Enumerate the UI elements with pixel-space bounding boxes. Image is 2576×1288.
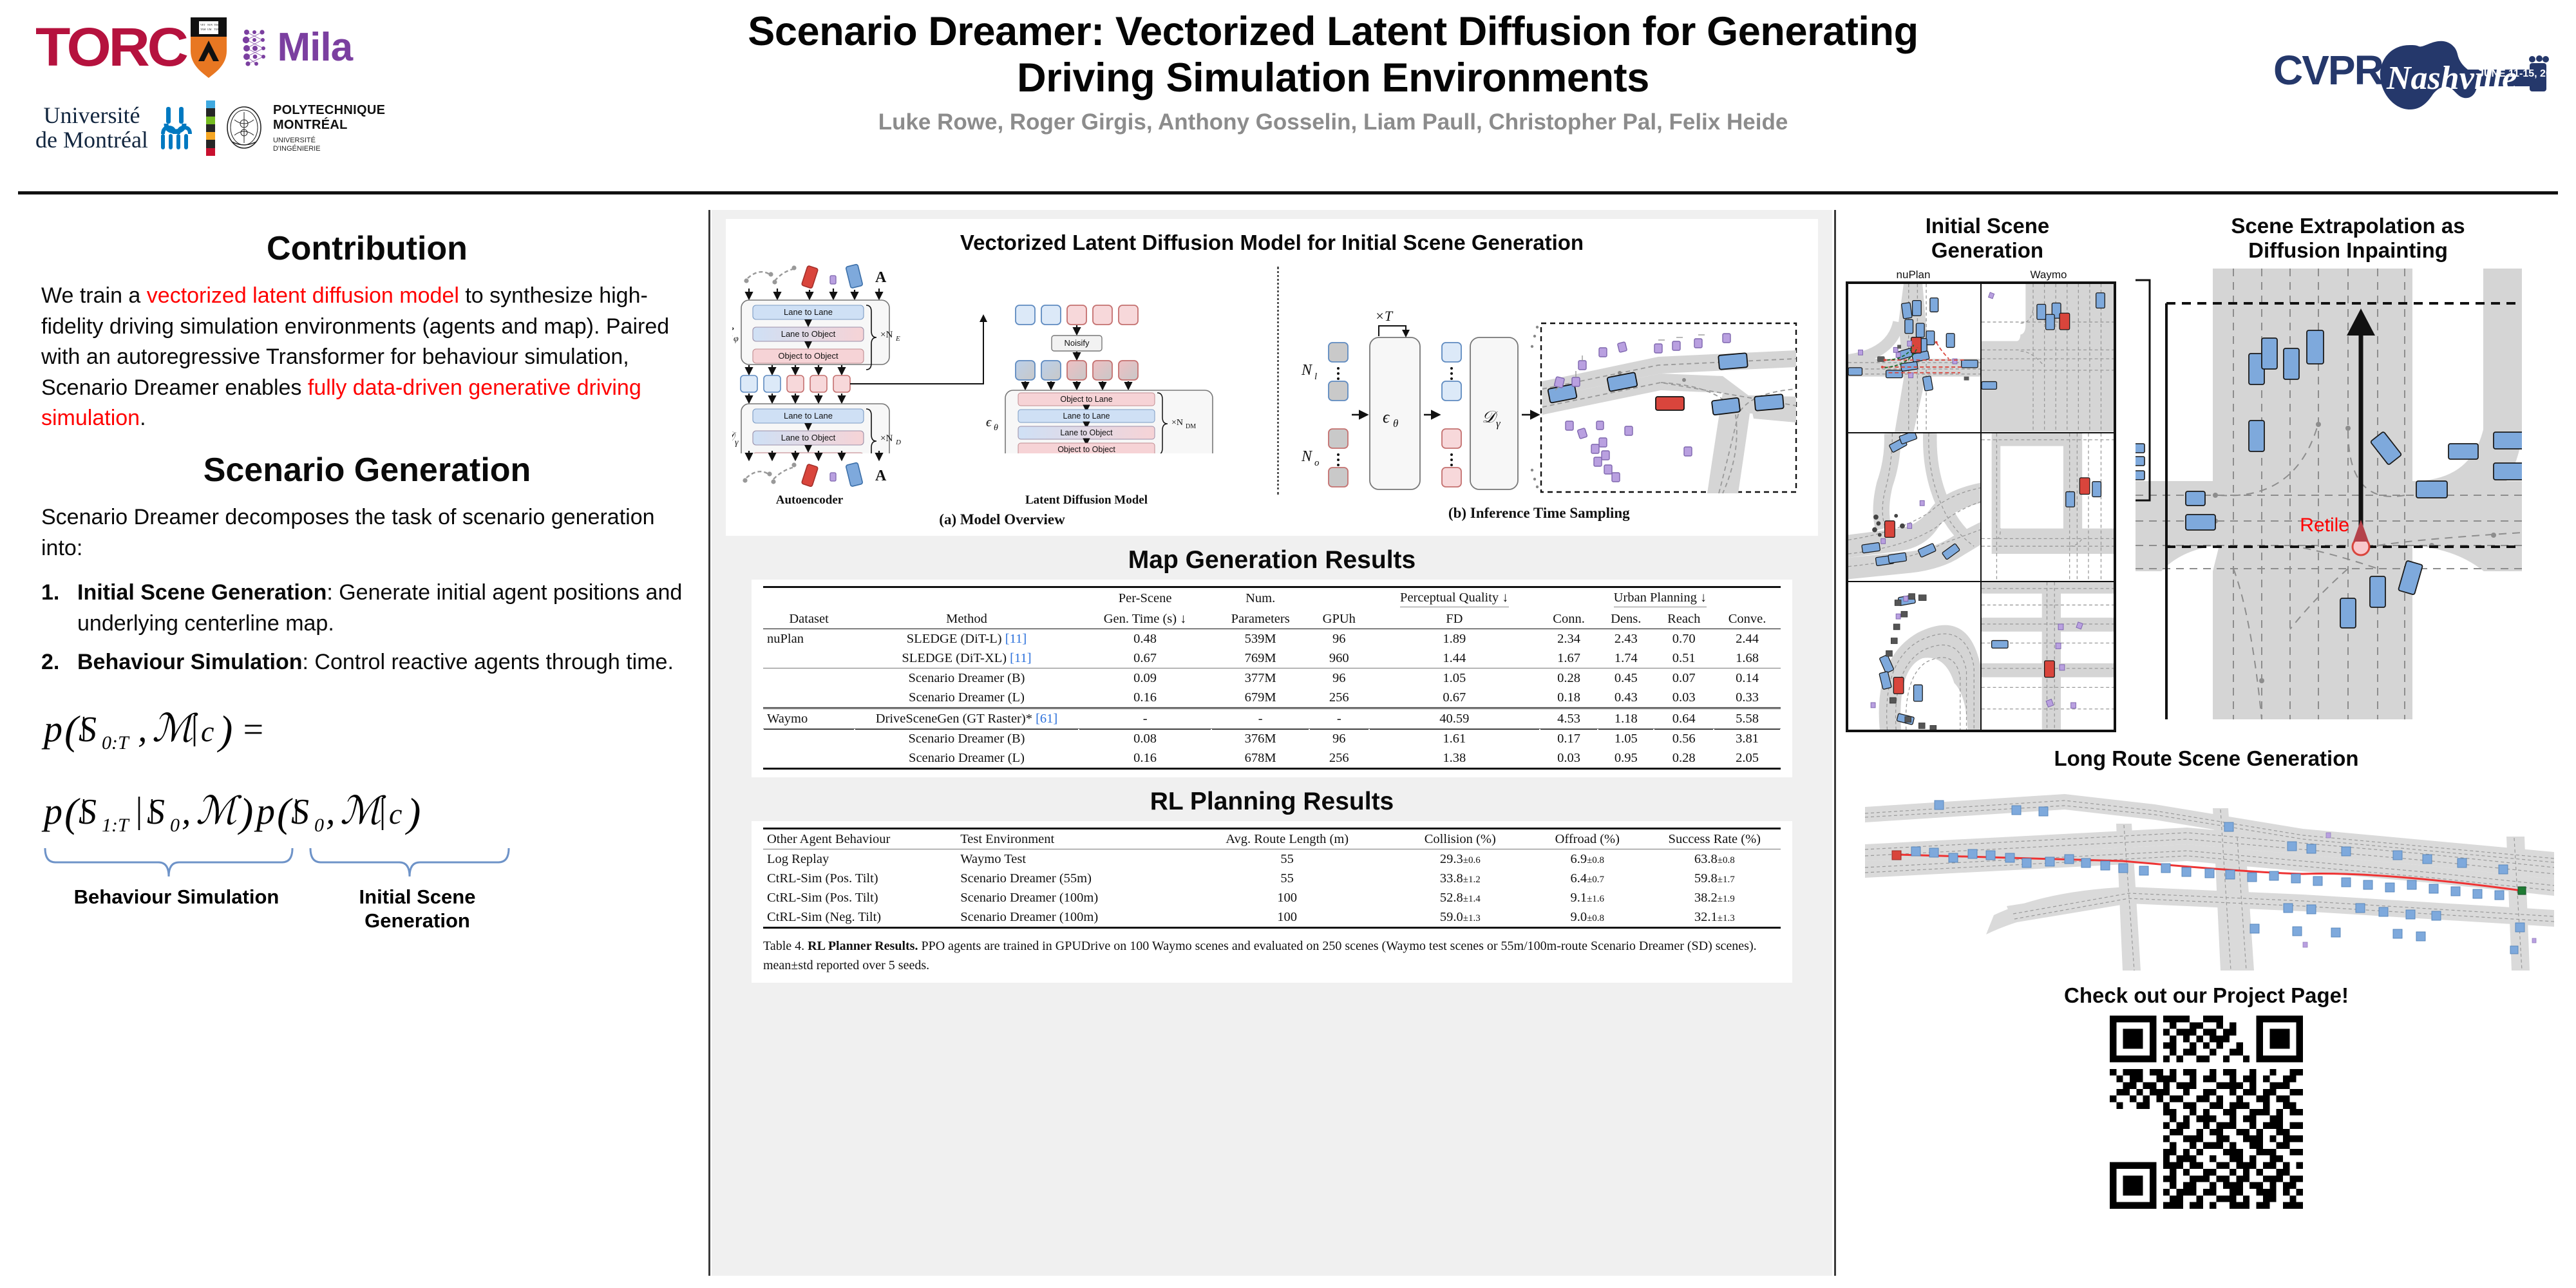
cell-gen: 0.08 [1079,729,1212,749]
map-results-table: Per-Scene Num. Perceptual Quality ↓ Urba… [763,586,1781,770]
list-item: 1. Initial Scene Generation: Generate in… [41,578,693,639]
scenario-steps-list: 1. Initial Scene Generation: Generate in… [41,578,693,678]
svg-text:×N: ×N [880,330,893,340]
col-gentime: Gen. Time (s) ↓ [1079,609,1212,629]
cell-reach: 0.03 [1654,688,1714,708]
rl-cell-behaviour: CtRL-Sim (Neg. Tilt) [763,907,956,928]
scene-cell-nuplan-2 [1848,433,1981,582]
cell-fd: 1.05 [1369,668,1540,688]
svg-text:c: c [201,715,214,748]
cell-params: 678M [1211,748,1309,769]
scenario-intro: Scenario Dreamer decomposes the task of … [41,502,693,563]
caption-prefix: Table 4. [763,939,804,953]
rl-col-env: Test Environment [956,829,1180,849]
cell-params: 679M [1211,688,1309,708]
rl-cell-offroad: 9.0±0.8 [1526,907,1649,928]
cell-params: 377M [1211,668,1309,688]
initial-scene-generation-block: Initial Scene Generation nuPlan Waymo [1846,210,2129,732]
cell-dataset [763,668,855,688]
table-row: Waymo DriveSceneGen (GT Raster)* [61] - … [763,708,1781,729]
inference-diagram: N l N o ϵ θ ×T [1272,260,1806,500]
cell-reach: 0.51 [1654,649,1714,668]
svg-text:): ) [216,707,232,753]
dataset-labels: nuPlan Waymo [1846,269,2116,281]
svg-text:=: = [241,710,265,750]
mila-dots-icon [240,27,274,67]
cell-dataset [763,748,855,769]
rl-cell-env: Waymo Test [956,849,1180,869]
cell-conn: 0.03 [1540,748,1598,769]
svg-text:Object to Lane: Object to Lane [1060,395,1112,404]
rl-cell-route: 55 [1180,869,1394,888]
svg-text:TES: TES [214,23,218,26]
cvpr-wordmark: CVPR [2273,46,2383,94]
cell-conve: 2.44 [1714,629,1781,649]
scene-extrapolation-block: Scene Extrapolation as Diffusion Inpaint… [2136,210,2561,732]
cell-gpuh: 960 [1309,649,1369,668]
mila-wordmark: Mila [277,24,352,70]
cell-gen: 0.48 [1079,629,1212,649]
cell-fd: 1.89 [1369,629,1540,649]
cell-conn: 0.28 [1540,668,1598,688]
cell-conn: 0.18 [1540,688,1598,708]
svg-text:Noisify: Noisify [1064,338,1090,348]
col-gpuh: GPUh [1309,609,1369,629]
model-overview-diagram: A ℰ φ Lane to Lane Lane to Obje [732,260,1276,453]
torc-logo: TORC [35,16,186,79]
extrapolation-heading-l1: Scene Extrapolation as [2136,214,2561,238]
poster-header: TORC VETNOVTES TAMUMTUM [0,0,2576,193]
cell-dataset [763,649,855,668]
group-header-num: Num. [1211,587,1309,610]
svg-text:p: p [41,708,62,750]
brace-label-behaviour: Behaviour Simulation [41,885,312,933]
extrapolation-heading: Scene Extrapolation as Diffusion Inpaint… [2136,214,2561,262]
table-bottom-rule [763,769,1781,770]
svg-text:Lane to Object: Lane to Object [781,329,836,339]
cell-gen: 0.67 [1079,649,1212,668]
svg-text:A: A [875,468,887,484]
cvpr-dates: JUNE 11-15, 2025 [2478,68,2563,80]
col-conve: Conve. [1714,609,1781,629]
cell-method: Scenario Dreamer (L) [855,748,1079,769]
scene-cell-nuplan-3 [1848,582,1981,730]
polytechnique-wordmark: POLYTECHNIQUE MONTRÉAL UNIVERSITÉ D'INGÉ… [273,103,385,153]
caption-bold: RL Planner Results. [808,939,918,953]
rl-cell-offroad: 9.1±1.6 [1526,888,1649,907]
svg-text:Lane to Lane: Lane to Lane [784,307,833,317]
brace-labels: Behaviour Simulation Initial Scene Gener… [41,885,693,933]
rl-cell-route: 55 [1180,849,1394,869]
rl-cell-route: 100 [1180,907,1394,928]
cell-conn: 4.53 [1540,708,1598,729]
cell-fd: 1.38 [1369,748,1540,769]
svg-text:TAM: TAM [200,28,206,31]
rl-cell-offroad: 6.4±0.7 [1526,869,1649,888]
cell-params: 539M [1211,629,1309,649]
factorization-equation: p ( S 0:T , ℳ c ) = p ( S [41,701,693,933]
svg-text:ℳ: ℳ [196,790,242,832]
list-item-number: 1. [41,578,68,639]
column-divider-right [1834,210,1836,1276]
col-dens: Dens. [1598,609,1654,629]
logo-row-top: TORC VETNOVTES TAMUMTUM [35,12,460,82]
poster-authors: Luke Rowe, Roger Girgis, Anthony Gosseli… [464,109,2202,135]
cell-gpuh: 96 [1309,629,1369,649]
list-item-text: Behaviour Simulation: Control reactive a… [77,647,674,678]
svg-text:×N: ×N [880,433,893,444]
table-column-header-row: Dataset Method Gen. Time (s) ↓ Parameter… [763,609,1781,629]
cell-gpuh: - [1309,708,1369,729]
cell-params: - [1211,708,1309,729]
brace-label-initial: Initial Scene Generation [314,885,520,933]
table-row: SLEDGE (DiT-XL) [11] 0.67 769M 960 1.44 … [763,649,1781,668]
svg-text:Autoencoder: Autoencoder [776,493,844,507]
cell-method: SLEDGE (DiT-XL) [11] [855,649,1079,668]
cell-method: Scenario Dreamer (B) [855,729,1079,749]
label-nuplan: nuPlan [1846,269,1981,281]
equation-braces [41,846,685,883]
cell-gpuh: 96 [1309,668,1369,688]
rl-results-title: RL Planning Results [712,788,1832,816]
table-group-header-row: Per-Scene Num. Perceptual Quality ↓ Urba… [763,587,1781,610]
rl-results-table: Other Agent Behaviour Test Environment A… [763,828,1781,929]
svg-text:Object to Object: Object to Object [1057,445,1115,453]
cell-reach: 0.64 [1654,708,1714,729]
cell-method: DriveSceneGen (GT Raster)* [61] [855,708,1079,729]
table-row: CtRL-Sim (Pos. Tilt) Scenario Dreamer (1… [763,888,1781,907]
svg-text:l: l [1314,372,1317,382]
svg-text:,: , [182,790,191,832]
svg-text:,: , [326,790,336,832]
cell-fd: 1.44 [1369,649,1540,668]
svg-text:,: , [138,708,147,750]
cell-reach: 0.28 [1654,748,1714,769]
cell-gpuh: 96 [1309,729,1369,749]
list-item-bold: Initial Scene Generation [77,580,327,605]
col-conn: Conn. [1540,609,1598,629]
figure-caption-a: (a) Model Overview [732,509,1272,528]
svg-text:N: N [1301,362,1313,379]
cell-dens: 1.18 [1598,708,1654,729]
rl-cell-collision: 33.8±1.2 [1394,869,1526,888]
initial-scene-heading-l1: Initial Scene [1846,214,2129,238]
figure-caption-b: (b) Inference Time Sampling [1272,502,1806,522]
svg-text:): ) [404,790,421,835]
cell-reach: 0.07 [1654,668,1714,688]
right-column: Initial Scene Generation nuPlan Waymo [1837,210,2576,1276]
princeton-shield-icon: VETNOVTES TAMUMTUM [189,15,229,79]
rl-col-route: Avg. Route Length (m) [1180,829,1394,849]
cell-dens: 2.43 [1598,629,1654,649]
project-qr-code[interactable] [2110,1016,2303,1209]
col-params: Parameters [1211,609,1309,629]
svg-text:φ: φ [734,334,739,344]
rl-cell-collision: 59.0±1.3 [1394,907,1526,928]
scene-cell-waymo-3 [1981,582,2114,730]
poster-root: TORC VETNOVTES TAMUMTUM [0,0,2576,1288]
cell-conve: 0.14 [1714,668,1781,688]
rl-cell-env: Scenario Dreamer (100m) [956,907,1180,928]
svg-text:θ: θ [994,423,998,433]
udem-line2: de Montréal [35,128,148,153]
poly-sub1: UNIVERSITÉ [273,137,385,145]
svg-text:S: S [79,792,97,832]
cell-reach: 0.70 [1654,629,1714,649]
left-column: Contribution We train a vectorized laten… [26,213,708,1275]
rl-cell-env: Scenario Dreamer (100m) [956,888,1180,907]
list-item-number: 2. [41,647,68,678]
table-row: CtRL-Sim (Neg. Tilt) Scenario Dreamer (1… [763,907,1781,928]
table-row: CtRL-Sim (Pos. Tilt) Scenario Dreamer (5… [763,869,1781,888]
svg-text:×N: ×N [1171,418,1183,428]
cell-method: SLEDGE (DiT-L) [11] [855,629,1079,649]
cell-dens: 0.95 [1598,748,1654,769]
rl-cell-success: 63.8±0.8 [1649,849,1781,869]
table-row: nuPlan SLEDGE (DiT-L) [11] 0.48 539M 96 … [763,629,1781,649]
svg-text:D: D [895,439,901,446]
col-dataset: Dataset [763,609,855,629]
cell-params: 376M [1211,729,1309,749]
brace-label-initial-l2: Generation [314,909,520,933]
poster-title-line2: Driving Simulation Environments [464,55,2202,102]
rl-col-collision: Collision (%) [1394,829,1526,849]
svg-text:Lane to Lane: Lane to Lane [1063,412,1110,421]
cell-conve: 0.33 [1714,688,1781,708]
extrapolation-heading-l2: Diffusion Inpainting [2136,238,2561,263]
rl-cell-collision: 29.3±0.6 [1394,849,1526,869]
cell-gen: 0.09 [1079,668,1212,688]
cell-conn: 2.34 [1540,629,1598,649]
svg-text:×T: ×T [1375,308,1394,324]
udem-line1: Université [35,104,148,128]
svg-text:p: p [254,790,275,832]
svg-text:UM: UM [207,28,212,31]
mila-logo: Mila [240,24,352,70]
svg-text:S: S [79,710,97,750]
table-row: Scenario Dreamer (L) 0.16 679M 256 0.67 … [763,688,1781,708]
rl-col-behaviour: Other Agent Behaviour [763,829,956,849]
cell-fd: 0.67 [1369,688,1540,708]
equation-line-2: p ( S 1:T S 0 , ℳ ) p ( S 0 [41,782,693,842]
cell-dens: 0.45 [1598,668,1654,688]
rl-cell-behaviour: Log Replay [763,849,956,869]
rl-col-offroad: Offroad (%) [1526,829,1649,849]
udem-logo: Université de Montréal [35,104,148,153]
long-route-heading: Long Route Scene Generation [1837,746,2576,771]
svg-text:c: c [389,797,402,830]
contribution-paragraph: We train a vectorized latent diffusion m… [41,281,693,434]
rl-col-success: Success Rate (%) [1649,829,1781,849]
title-block: Scenario Dreamer: Vectorized Latent Diff… [464,9,2202,135]
udem-mark-icon [157,106,197,151]
svg-text:1:T: 1:T [102,815,130,836]
cell-dataset: nuPlan [763,629,855,649]
rl-cell-behaviour: CtRL-Sim (Pos. Tilt) [763,869,956,888]
rl-cell-env: Scenario Dreamer (55m) [956,869,1180,888]
svg-text:DM: DM [1186,423,1196,430]
long-route-figure [1852,777,2561,977]
svg-text:Lane to Object: Lane to Object [1060,428,1113,437]
svg-text:A: A [875,269,887,286]
list-item-text: Initial Scene Generation: Generate initi… [77,578,693,639]
group-header-urban: Urban Planning ↓ [1614,591,1707,607]
contribution-text-e: . [140,406,146,430]
table-row: Log Replay Waymo Test 55 29.3±0.6 6.9±0.… [763,849,1781,869]
figure-title: Vectorized Latent Diffusion Model for In… [732,224,1812,260]
model-overview-panel: A ℰ φ Lane to Lane Lane to Obje [732,260,1272,528]
contribution-text-a: We train a [41,283,147,308]
poly-sub2: D'INGÉNIERIE [273,145,385,153]
cell-method: Scenario Dreamer (B) [855,668,1079,688]
contribution-heading: Contribution [41,229,693,268]
rl-cell-behaviour: CtRL-Sim (Pos. Tilt) [763,888,956,907]
list-item: 2. Behaviour Simulation: Control reactiv… [41,647,693,678]
cell-gen: 0.16 [1079,688,1212,708]
group-header-perceptual: Perceptual Quality ↓ [1400,591,1509,607]
header-divider [18,191,2558,194]
cell-dens: 1.74 [1598,649,1654,668]
svg-text:TUM: TUM [214,28,220,31]
table-row: Scenario Dreamer (B) 0.08 376M 96 1.61 0… [763,729,1781,749]
svg-text:ℳ: ℳ [340,790,386,832]
list-item-bold: Behaviour Simulation [77,650,303,674]
architecture-figure-card: Vectorized Latent Diffusion Model for In… [726,219,1818,536]
rl-cell-route: 100 [1180,888,1394,907]
col-reach: Reach [1654,609,1714,629]
cell-gpuh: 256 [1309,688,1369,708]
svg-text:ℳ: ℳ [152,707,198,750]
scene-cell-waymo-2 [1981,433,2114,582]
svg-text:Lane to Object: Lane to Object [781,433,836,442]
cell-conve: 5.58 [1714,708,1781,729]
svg-text:0: 0 [170,815,180,836]
label-waymo: Waymo [1981,269,2116,281]
svg-text:θ: θ [1393,417,1398,430]
initial-scene-heading-l2: Generation [1846,238,2129,263]
svg-text:S: S [291,792,309,832]
inference-sampling-panel: N l N o ϵ θ ×T [1272,260,1806,528]
rl-bottom-rule [763,928,1781,929]
map-results-title: Map Generation Results [712,546,1832,574]
column-divider-left [708,210,710,1276]
rl-cell-offroad: 6.9±0.8 [1526,849,1649,869]
col-fd: FD [1369,609,1540,629]
cell-params: 769M [1211,649,1309,668]
rl-cell-collision: 52.8±1.4 [1394,888,1526,907]
cell-conve: 1.68 [1714,649,1781,668]
rl-header-row: Other Agent Behaviour Test Environment A… [763,829,1781,849]
table-row: Scenario Dreamer (L) 0.16 678M 256 1.38 … [763,748,1781,769]
cell-dataset: Waymo [763,708,855,729]
cell-reach: 0.56 [1654,729,1714,749]
rl-cell-success: 32.1±1.3 [1649,907,1781,928]
cell-dataset [763,688,855,708]
scene-cell-waymo-1 [1981,283,2114,432]
svg-text:NOV: NOV [207,23,213,26]
polytechnique-crest-icon [224,104,264,152]
svg-text:0: 0 [314,815,324,836]
cell-conve: 2.05 [1714,748,1781,769]
cell-conn: 0.17 [1540,729,1598,749]
cell-conve: 3.81 [1714,729,1781,749]
rl-cell-success: 59.8±1.7 [1649,869,1781,888]
cell-gen: 0.16 [1079,748,1212,769]
inpainting-figure: Retile [2136,269,2522,719]
brace-label-initial-l1: Initial Scene [314,885,520,909]
logo-row-bottom: Université de Montréal [35,93,460,164]
svg-text:o: o [1314,458,1320,468]
cell-dens: 0.43 [1598,688,1654,708]
cell-dataset [763,729,855,749]
map-results-card: Per-Scene Num. Perceptual Quality ↓ Urba… [752,580,1792,777]
rl-results-card: Other Agent Behaviour Test Environment A… [752,821,1792,983]
scene-cell-nuplan-1 [1848,283,1981,432]
retile-label: Retile [2300,515,2349,536]
svg-text:Latent Diffusion Model: Latent Diffusion Model [1025,493,1148,507]
figure-body: A ℰ φ Lane to Lane Lane to Obje [732,260,1812,528]
rl-table-caption: Table 4. RL Planner Results. PPO agents … [763,936,1781,975]
poly-line1: POLYTECHNIQUE [273,103,385,117]
svg-text:Object to Object: Object to Object [778,351,838,361]
svg-text:0:T: 0:T [102,732,130,753]
polytechnique-colorbars-icon [206,100,215,156]
cell-gpuh: 256 [1309,748,1369,769]
project-page-heading: Check out our Project Page! [1837,983,2576,1008]
cell-fd: 40.59 [1369,708,1540,729]
table-row: Scenario Dreamer (B) 0.09 377M 96 1.05 0… [763,668,1781,688]
svg-text:S: S [147,792,165,832]
poly-line2: MONTRÉAL [273,118,385,132]
rl-cell-success: 38.2±1.9 [1649,888,1781,907]
scene-grid [1846,281,2116,732]
svg-text:VET: VET [200,23,205,26]
cell-dens: 1.05 [1598,729,1654,749]
list-item-rest: : Control reactive agents through time. [303,650,674,674]
poster-title-line1: Scenario Dreamer: Vectorized Latent Diff… [464,9,2202,55]
contribution-highlight-1: vectorized latent diffusion model [147,283,459,308]
equation-line-1: p ( S 0:T , ℳ c ) = [41,701,693,759]
svg-text:N: N [1301,448,1313,465]
svg-text:γ: γ [735,438,739,448]
svg-text:): ) [237,790,253,835]
svg-text:p: p [41,790,62,832]
svg-text:E: E [895,335,900,343]
initial-scene-heading: Initial Scene Generation [1846,214,2129,262]
center-column: Vectorized Latent Diffusion Model for In… [712,210,1832,1276]
right-top-row: Initial Scene Generation nuPlan Waymo [1837,210,2576,732]
cell-gen: - [1079,708,1212,729]
logo-group-left: TORC VETNOVTES TAMUMTUM [35,12,460,173]
group-header-per-scene: Per-Scene [1079,587,1212,610]
svg-text:ϵ: ϵ [1383,408,1390,426]
cell-conn: 1.67 [1540,649,1598,668]
autoencoder-output-icons: A Autoencoder Latent Diffusion Model [732,450,1276,509]
svg-text:Lane to Lane: Lane to Lane [784,411,833,421]
svg-text:ϵ: ϵ [986,414,992,430]
cell-fd: 1.61 [1369,729,1540,749]
cvpr-logo: CVPR Nashville JUNE 11-15, 2025 [2273,28,2550,125]
scenario-generation-heading: Scenario Generation [41,451,693,489]
col-method: Method [855,609,1079,629]
cell-method: Scenario Dreamer (L) [855,688,1079,708]
